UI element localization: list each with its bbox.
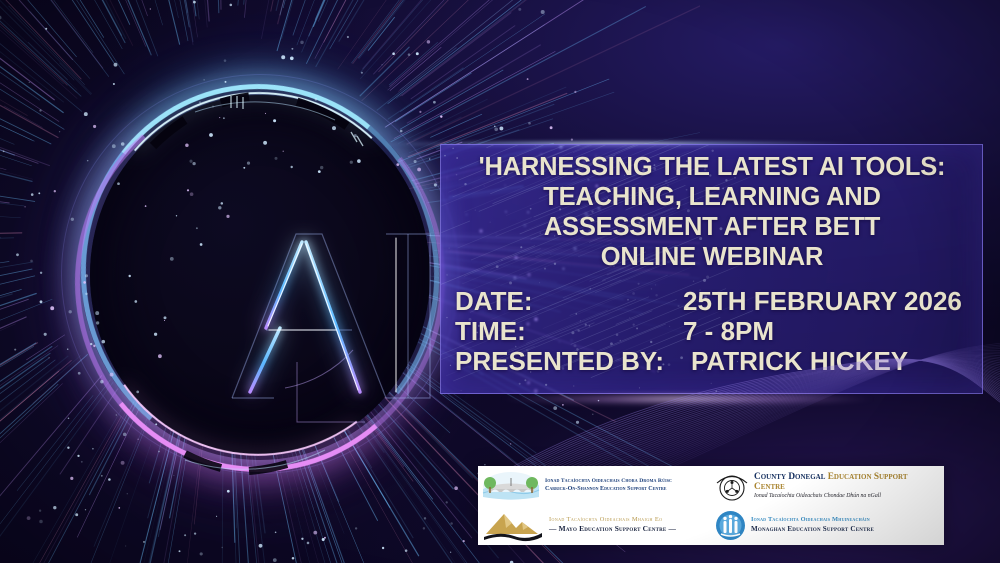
time-value: 7 - 8PM <box>683 316 985 346</box>
logo-carrick-irish: Ionad Tacaíochta Oideachais Chora Droma … <box>545 478 672 484</box>
webinar-promo-poster: 'HARNESSING THE LATEST AI TOOLS: TEACHIN… <box>0 0 1000 563</box>
date-value: 25TH FEBRUARY 2026 <box>683 286 985 316</box>
logo-county-donegal: County Donegal Education Support Centre … <box>711 466 944 506</box>
logo-donegal-text: County Donegal Education Support Centre … <box>754 472 940 499</box>
logo-donegal-primary: County Donegal <box>754 472 825 482</box>
orb-magenta-arc <box>59 75 461 488</box>
logo-row-top: Ionad Tacaíochta Oideachais Chora Droma … <box>478 466 944 506</box>
bridge-over-water-logo-icon <box>482 469 540 502</box>
logo-carrick-text: Ionad Tacaíochta Oideachais Chora Droma … <box>545 478 672 493</box>
orb-magenta-inner-arc <box>66 80 455 481</box>
presenter-name: PATRICK HICKEY <box>691 346 985 376</box>
orb-glow-halo <box>81 86 439 460</box>
sponsor-logo-bar: Ionad Tacaíochta Oideachais Chora Droma … <box>478 466 944 545</box>
date-label: DATE: <box>455 286 683 316</box>
orb-outer-thin-ring <box>61 74 459 474</box>
orb-ring-segments <box>35 50 465 510</box>
logo-carrick-on-shannon: Ionad Tacaíochta Oideachais Chora Droma … <box>478 466 711 506</box>
detail-row-presenter: PRESENTED BY: PATRICK HICKEY <box>455 346 985 376</box>
ai-neon-letters <box>210 220 450 410</box>
logo-monaghan: Ionad Tacaíochta Oideachais Mhuineacháin… <box>711 506 944 546</box>
title-line-3: ASSESSMENT AFTER BETT <box>448 212 976 242</box>
ai-orb-graphic <box>35 50 465 510</box>
presented-by-label: PRESENTED BY: <box>455 346 691 376</box>
logo-row-bottom: Ionad Tacaíochta Oideachais Mhaigh Eo — … <box>478 506 944 546</box>
panel-bottom-light-beam <box>430 392 990 406</box>
orb-cyan-inner-arc <box>80 83 440 462</box>
logo-mayo-english: — Mayo Education Support Centre — <box>549 525 676 533</box>
logo-donegal-primary-line: County Donegal Education Support Centre <box>754 472 940 492</box>
logo-monaghan-irish: Ionad Tacaíochta Oideachais Mhuineacháin <box>751 517 874 524</box>
logo-donegal-irish: Ionad Tacaíochta Oideachais Chondae Dhún… <box>754 493 940 499</box>
page-title: 'HARNESSING THE LATEST AI TOOLS: TEACHIN… <box>448 152 976 272</box>
orb-cyan-arc <box>62 66 458 479</box>
title-line-4: ONLINE WEBINAR <box>448 242 976 272</box>
logo-monaghan-english: Monaghan Education Support Centre <box>751 526 874 534</box>
mountain-range-logo-icon <box>482 509 544 542</box>
detail-row-date: DATE: 25TH FEBRUARY 2026 <box>455 286 985 316</box>
logo-monaghan-text: Ionad Tacaíochta Oideachais Mhuineacháin… <box>751 517 874 533</box>
logo-carrick-english: Carrick-On-Shannon Education Support Cen… <box>545 486 672 493</box>
logo-mayo-irish: Ionad Tacaíochta Oideachais Mhaigh Eo <box>549 517 676 524</box>
title-line-2: TEACHING, LEARNING AND <box>448 182 976 212</box>
logo-mayo: Ionad Tacaíochta Oideachais Mhaigh Eo — … <box>478 506 711 546</box>
detail-row-time: TIME: 7 - 8PM <box>455 316 985 346</box>
logo-mayo-text: Ionad Tacaíochta Oideachais Mhaigh Eo — … <box>549 517 676 533</box>
time-label: TIME: <box>455 316 683 346</box>
circular-eye-emblem-logo-icon <box>715 469 749 502</box>
title-line-1: 'HARNESSING THE LATEST AI TOOLS: <box>448 152 976 182</box>
blue-circle-pillars-logo-icon <box>715 510 746 541</box>
event-details: DATE: 25TH FEBRUARY 2026 TIME: 7 - 8PM P… <box>455 286 985 376</box>
orb-dark-core <box>90 95 430 455</box>
